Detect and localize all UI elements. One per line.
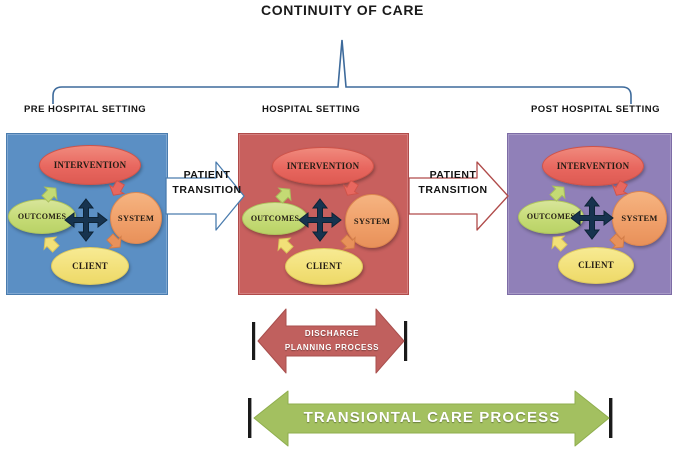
flow-arrow-green-icon: [273, 183, 296, 206]
flow-arrow-yellow-icon: [273, 233, 296, 256]
four-way-arrow-icon: [62, 196, 110, 244]
caption-hospital: HOSPITAL SETTING: [262, 104, 360, 115]
panel-pre-hospital[interactable]: INTERVENTION OUTCOMES SYSTEM CLIENT: [6, 133, 168, 295]
flow-arrow-yellow-icon: [547, 231, 570, 254]
flow-arrow-green-icon: [547, 181, 570, 204]
caption-post-hospital: POST HOSPITAL SETTING: [531, 104, 660, 115]
page-title: CONTINUITY OF CARE: [0, 2, 685, 18]
flow-arrow-green-icon: [39, 182, 62, 205]
panel-hospital[interactable]: INTERVENTION OUTCOMES SYSTEM CLIENT: [238, 133, 409, 295]
flow-arrow-red-icon: [106, 178, 128, 200]
discharge-planning-label: DISCHARGE PLANNING PROCESS: [262, 327, 402, 355]
four-way-arrow-icon: [296, 196, 344, 244]
flow-arrow-orange-icon: [607, 231, 629, 253]
discharge-line2: PLANNING PROCESS: [262, 341, 402, 355]
caption-pre-hospital: PRE HOSPITAL SETTING: [24, 104, 146, 115]
continuity-bracket: [0, 18, 685, 104]
patient-transition-label-1: PATIENT TRANSITION: [170, 168, 244, 198]
flow-arrow-orange-icon: [104, 231, 126, 253]
patient-transition-line1: PATIENT: [413, 168, 493, 183]
flow-arrow-red-icon: [340, 178, 362, 200]
flow-arrow-red-icon: [609, 178, 631, 200]
patient-transition-line1: PATIENT: [170, 168, 244, 183]
diagram-canvas: CONTINUITY OF CARE PRE HOSPITAL SETTING …: [0, 0, 685, 452]
flow-arrow-yellow-icon: [39, 232, 62, 255]
patient-transition-line2: TRANSITION: [413, 183, 493, 198]
patient-transition-line2: TRANSITION: [170, 183, 244, 198]
flow-arrow-orange-icon: [338, 232, 360, 254]
panel-post-hospital[interactable]: INTERVENTION OUTCOMES SYSTEM CLIENT: [507, 133, 672, 295]
patient-transition-label-2: PATIENT TRANSITION: [413, 168, 493, 198]
transitional-care-label: TRANSIONTAL CARE PROCESS: [262, 409, 602, 426]
discharge-line1: DISCHARGE: [262, 327, 402, 341]
